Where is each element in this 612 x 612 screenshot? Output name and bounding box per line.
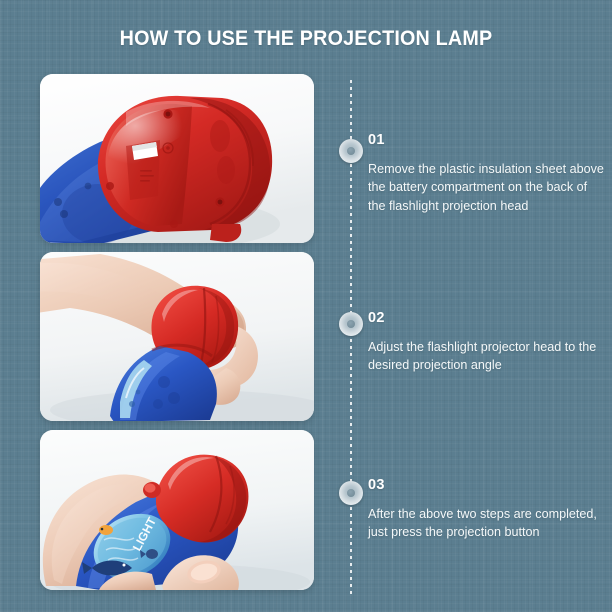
step-number-3: 03	[368, 476, 606, 494]
timeline-marker-3	[339, 481, 363, 505]
photo-hand-pressing-projection-button: LIGHT	[40, 430, 314, 590]
step-block-1: 01 Remove the plastic insulation sheet a…	[368, 131, 606, 215]
photo-hand-adjusting-projector-head	[40, 252, 314, 421]
step-photo-card-2	[40, 252, 314, 421]
page-title: HOW TO USE THE PROJECTION LAMP	[18, 27, 593, 51]
step-number-2: 02	[368, 309, 606, 327]
step-photo-card-3: LIGHT	[40, 430, 314, 590]
timeline-marker-2	[339, 312, 363, 336]
step-text-2: Adjust the flashlight projector head to …	[368, 338, 606, 375]
timeline-marker-1	[339, 139, 363, 163]
photo-projection-head-insulation-tab	[40, 74, 314, 243]
projection-lamp-instruction-page: HOW TO USE THE PROJECTION LAMP	[0, 0, 612, 612]
step-block-2: 02 Adjust the flashlight projector head …	[368, 309, 606, 375]
step-text-1: Remove the plastic insulation sheet abov…	[368, 160, 606, 215]
step-text-3: After the above two steps are completed,…	[368, 505, 606, 542]
step-photo-card-1	[40, 74, 314, 243]
step-block-3: 03 After the above two steps are complet…	[368, 476, 606, 542]
step-number-1: 01	[368, 131, 606, 149]
